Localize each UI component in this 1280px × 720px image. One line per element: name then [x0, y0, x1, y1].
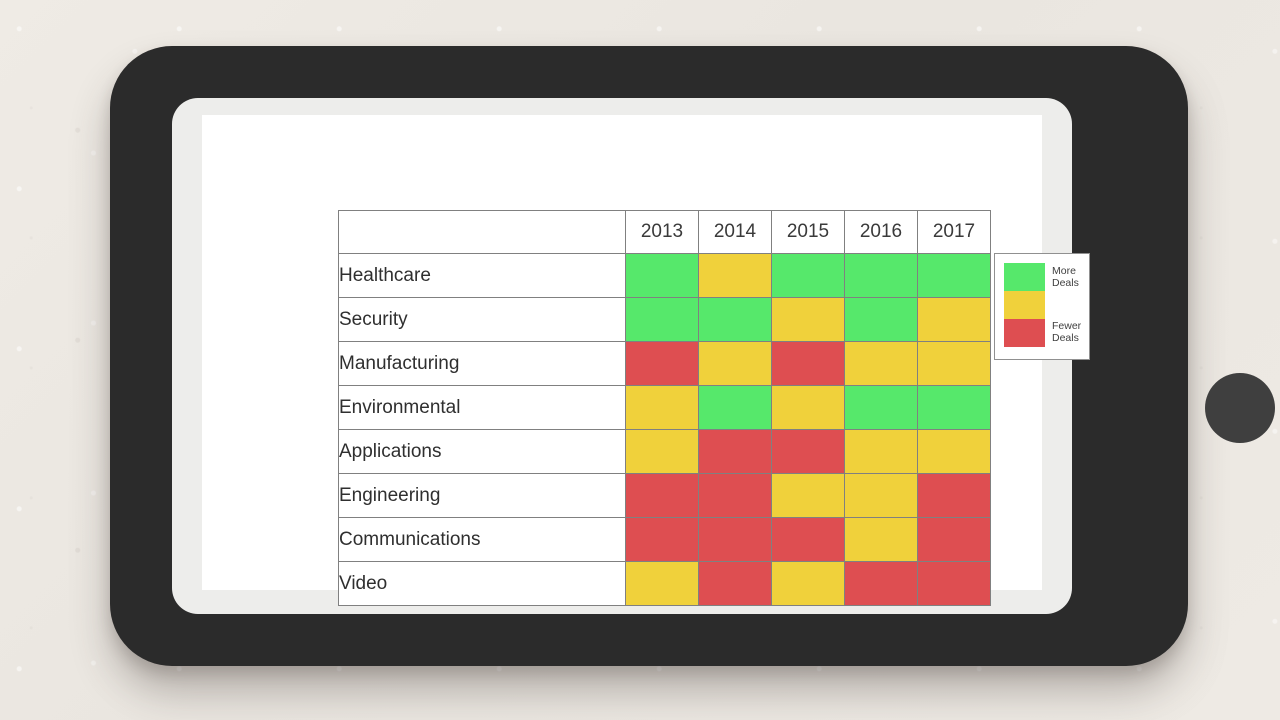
tablet-device: 2013 2014 2015 2016 2017 HealthcareSecur…	[110, 46, 1188, 666]
heatmap-cell	[845, 562, 918, 606]
column-header-2014: 2014	[699, 211, 772, 254]
row-label-security: Security	[339, 298, 626, 342]
column-header-2016: 2016	[845, 211, 918, 254]
heatmap-chart: 2013 2014 2015 2016 2017 HealthcareSecur…	[338, 210, 990, 602]
heatmap-cell	[699, 254, 772, 298]
heatmap-cell	[845, 342, 918, 386]
legend-label-stack: More Deals Fewer Deals	[1052, 263, 1089, 359]
legend-swatch-fewer-deals	[1004, 319, 1045, 347]
table-row: Engineering	[339, 474, 991, 518]
heatmap-cell	[699, 518, 772, 562]
legend-swatch-more-deals	[1004, 263, 1045, 291]
heatmap-cell	[699, 386, 772, 430]
heatmap-cell	[772, 474, 845, 518]
legend-label-fewer-deals: Fewer Deals	[1052, 320, 1081, 344]
column-header-2017: 2017	[918, 211, 991, 254]
table-row: Security	[339, 298, 991, 342]
heatmap-cell	[845, 518, 918, 562]
heatmap-cell	[918, 518, 991, 562]
heatmap-cell	[845, 298, 918, 342]
row-label-video: Video	[339, 562, 626, 606]
legend-swatch-stack	[1004, 263, 1045, 359]
heatmap-cell	[626, 518, 699, 562]
heatmap-cell	[918, 386, 991, 430]
heatmap-cell	[845, 386, 918, 430]
heatmap-cell	[918, 562, 991, 606]
heatmap-cell	[626, 254, 699, 298]
legend-label-fewer-line1: Fewer	[1052, 320, 1081, 332]
legend-swatch-neutral	[1004, 291, 1045, 319]
row-label-engineering: Engineering	[339, 474, 626, 518]
row-label-manufacturing: Manufacturing	[339, 342, 626, 386]
heatmap-cell	[845, 254, 918, 298]
heatmap-cell	[699, 430, 772, 474]
heatmap-table: 2013 2014 2015 2016 2017 HealthcareSecur…	[338, 210, 991, 606]
heatmap-corner-cell	[339, 211, 626, 254]
heatmap-cell	[845, 430, 918, 474]
heatmap-cell	[772, 342, 845, 386]
heatmap-cell	[772, 386, 845, 430]
table-row: Communications	[339, 518, 991, 562]
heatmap-cell	[772, 298, 845, 342]
row-label-healthcare: Healthcare	[339, 254, 626, 298]
heatmap-cell	[918, 430, 991, 474]
heatmap-cell	[626, 430, 699, 474]
heatmap-cell	[772, 254, 845, 298]
heatmap-cell	[699, 342, 772, 386]
heatmap-cell	[626, 298, 699, 342]
row-label-communications: Communications	[339, 518, 626, 562]
heatmap-cell	[918, 474, 991, 518]
heatmap-cell	[626, 562, 699, 606]
legend-label-fewer-line2: Deals	[1052, 332, 1081, 344]
heatmap-cell	[626, 386, 699, 430]
heatmap-cell	[918, 342, 991, 386]
table-row: Environmental	[339, 386, 991, 430]
table-row: Manufacturing	[339, 342, 991, 386]
heatmap-cell	[699, 562, 772, 606]
row-label-applications: Applications	[339, 430, 626, 474]
heatmap-cell	[918, 254, 991, 298]
legend-label-more-line2: Deals	[1052, 277, 1079, 289]
legend-label-more-deals: More Deals	[1052, 265, 1079, 289]
table-row: Applications	[339, 430, 991, 474]
heatmap-body: HealthcareSecurityManufacturingEnvironme…	[339, 254, 991, 606]
heatmap-cell	[699, 298, 772, 342]
heatmap-header-row: 2013 2014 2015 2016 2017	[339, 211, 991, 254]
home-button[interactable]	[1205, 373, 1275, 443]
column-header-2015: 2015	[772, 211, 845, 254]
heatmap-cell	[772, 518, 845, 562]
table-row: Video	[339, 562, 991, 606]
table-row: Healthcare	[339, 254, 991, 298]
heatmap-cell	[845, 474, 918, 518]
heatmap-cell	[699, 474, 772, 518]
legend-label-more-line1: More	[1052, 265, 1079, 277]
column-header-2013: 2013	[626, 211, 699, 254]
row-label-environmental: Environmental	[339, 386, 626, 430]
heatmap-cell	[772, 430, 845, 474]
heatmap-cell	[918, 298, 991, 342]
heatmap-cell	[626, 474, 699, 518]
heatmap-cell	[626, 342, 699, 386]
legend: More Deals Fewer Deals	[994, 253, 1090, 360]
heatmap-cell	[772, 562, 845, 606]
